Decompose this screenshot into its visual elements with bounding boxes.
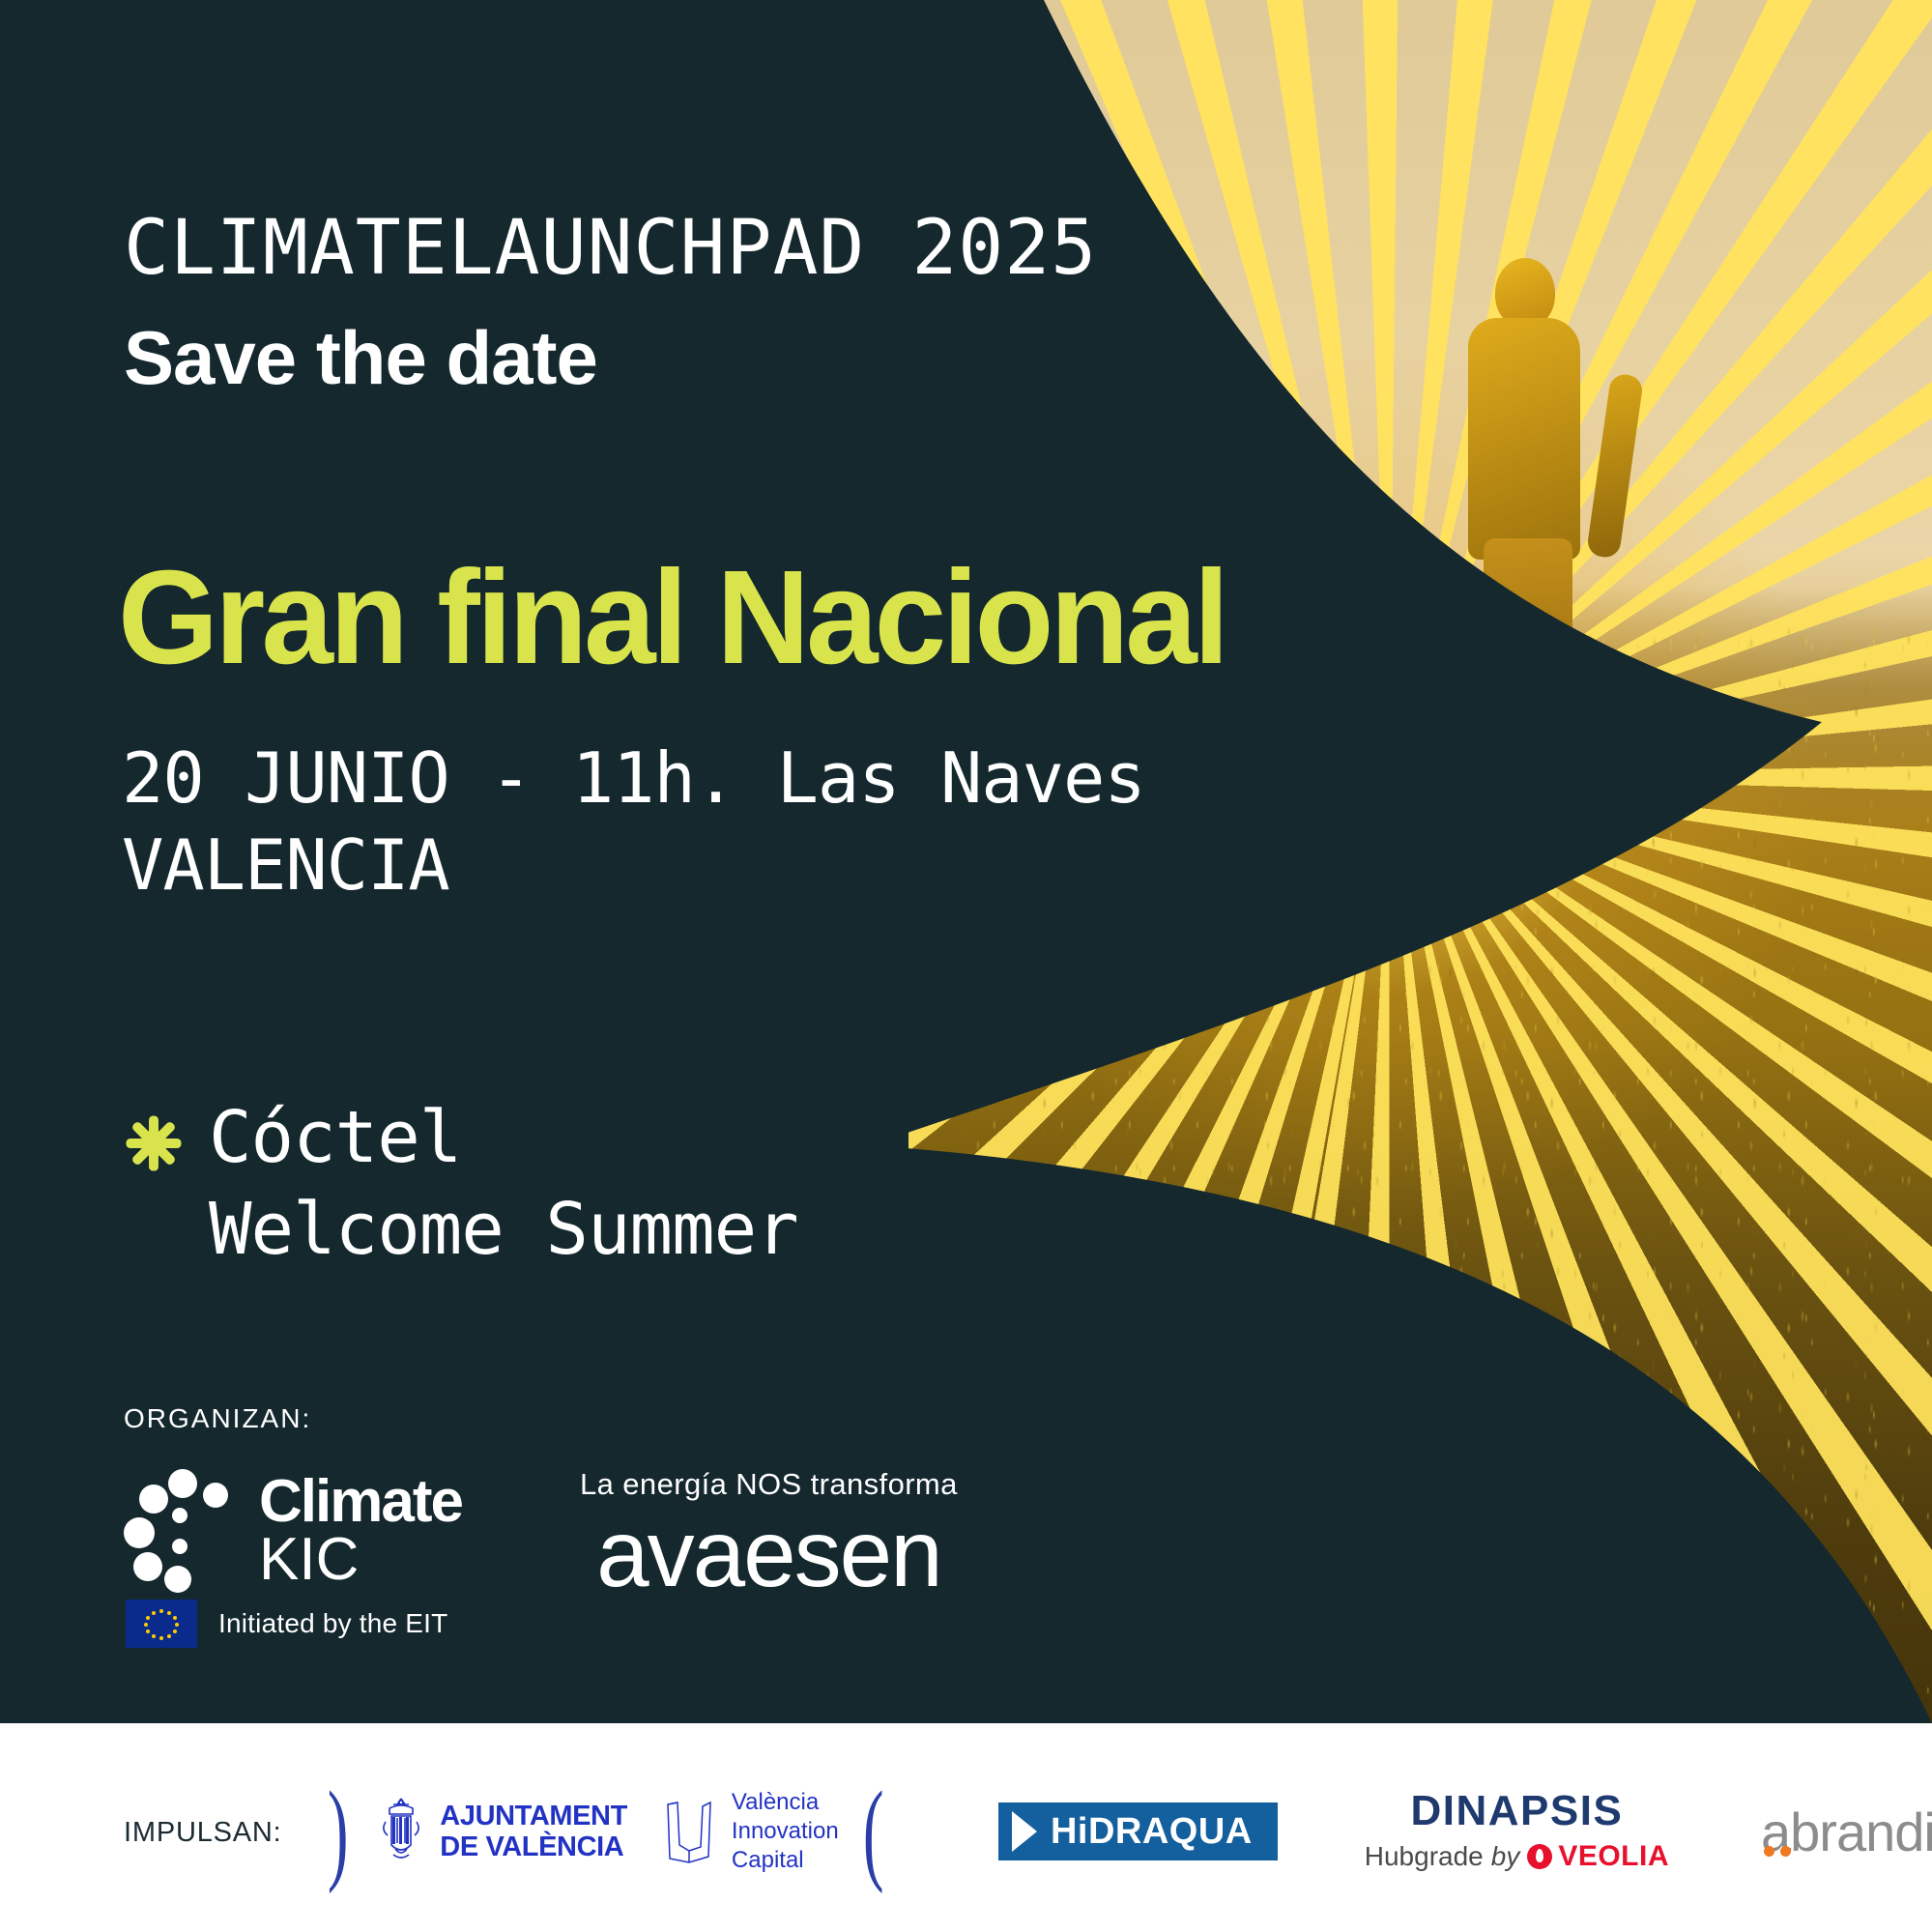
valencia-crest-icon bbox=[374, 1795, 428, 1868]
veolia-label: VEOLIA bbox=[1558, 1840, 1669, 1873]
footer-label: IMPULSAN: bbox=[124, 1817, 282, 1849]
logo-valencia-group: ) bbox=[319, 1788, 892, 1875]
cocktail-block: Cóctel Welcome Summer bbox=[124, 1092, 798, 1275]
logo-avaesen: La energía NOS transforma avaesen bbox=[580, 1467, 958, 1600]
avaesen-wordmark: avaesen bbox=[580, 1506, 958, 1600]
dinapsis-hubgrade-label: Hubgrade bbox=[1365, 1841, 1484, 1872]
climate-kic-mark-icon bbox=[122, 1469, 245, 1593]
hidraqua-triangle-icon bbox=[1012, 1811, 1037, 1852]
page-title: Gran final Nacional bbox=[118, 541, 1226, 695]
climate-kic-line2: KIC bbox=[259, 1531, 462, 1589]
abranding-umlaut-icon bbox=[1764, 1806, 1799, 1817]
dinapsis-by-label: by bbox=[1491, 1841, 1520, 1872]
logo-valencia-innovation-capital: València Innovation Capital bbox=[660, 1788, 839, 1875]
logo-ajuntament-de-valencia: AJUNTAMENT DE VALÈNCIA bbox=[374, 1795, 627, 1868]
left-paren-decoration: ) bbox=[328, 1789, 349, 1875]
poster-canvas: CLIMATELAUNCHPAD 2025 Save the date Gran… bbox=[0, 0, 1932, 1932]
cocktail-text: Cóctel Welcome Summer bbox=[209, 1092, 798, 1275]
vic-v-icon bbox=[660, 1795, 720, 1868]
event-dateline: 20 JUNIO - 11h. Las Naves VALENCIA bbox=[122, 735, 1145, 908]
logo-climate-kic: Climate KIC bbox=[122, 1469, 462, 1593]
avaesen-tagline: La energía NOS transforma bbox=[580, 1467, 958, 1502]
save-the-date-label: Save the date bbox=[124, 314, 597, 402]
hidraqua-label: HiDRAQUA bbox=[1051, 1811, 1253, 1853]
eit-block: Initiated by the EIT bbox=[126, 1600, 447, 1648]
logo-dinapsis: DINAPSIS Hubgrade by VEOLIA bbox=[1365, 1790, 1669, 1873]
footer-logo-row: ) bbox=[319, 1769, 1865, 1894]
ajuntament-label: AJUNTAMENT DE VALÈNCIA bbox=[440, 1801, 627, 1863]
logo-hidraqua: HiDRAQUA bbox=[998, 1802, 1278, 1860]
eit-label: Initiated by the EIT bbox=[218, 1608, 447, 1639]
logo-abranding: abranding bbox=[1761, 1801, 1932, 1863]
asterisk-star-icon bbox=[124, 1113, 184, 1173]
climate-kic-line1: Climate bbox=[259, 1473, 462, 1531]
vic-label: València Innovation Capital bbox=[732, 1788, 839, 1875]
eu-flag-icon bbox=[126, 1600, 197, 1648]
veolia-drop-icon bbox=[1527, 1844, 1552, 1869]
organizers-label: ORGANIZAN: bbox=[124, 1403, 311, 1434]
right-paren-decoration: ( bbox=[863, 1789, 884, 1875]
page-kicker: CLIMATELAUNCHPAD 2025 bbox=[124, 205, 1097, 292]
dinapsis-label: DINAPSIS bbox=[1365, 1790, 1669, 1832]
